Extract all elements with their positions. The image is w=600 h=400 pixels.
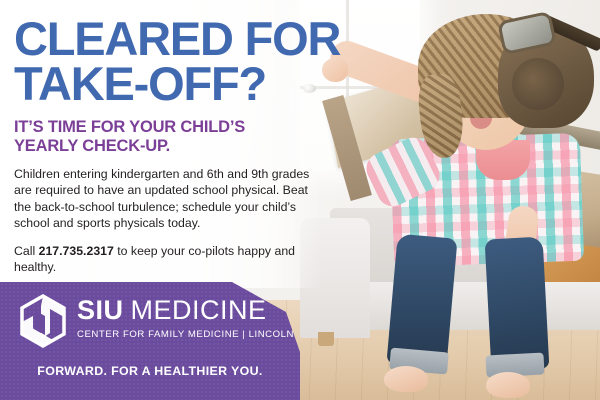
logo-medicine-text: MEDICINE	[131, 297, 267, 324]
call-prefix-text: Call	[14, 244, 39, 258]
brand-tagline: FORWARD. FOR A HEALTHIER YOU.	[0, 364, 300, 378]
child-jeans-right	[485, 237, 550, 372]
logo-wordmark: SIU MEDICINE	[77, 297, 294, 324]
child-foot-left	[384, 366, 428, 392]
couch-seat	[330, 282, 600, 330]
child-foot-right	[486, 372, 530, 398]
body-paragraph: Children entering kindergarten and 6th a…	[14, 166, 310, 231]
logo-text-lockup: SIU MEDICINE CENTER FOR FAMILY MEDICINE …	[77, 294, 294, 340]
page-title: CLEARED FOR TAKE-OFF?	[14, 16, 344, 106]
siu-medicine-logo[interactable]: SIU MEDICINE CENTER FOR FAMILY MEDICINE …	[18, 294, 294, 348]
phone-number[interactable]: 217.735.2317	[39, 244, 114, 258]
call-to-action-line: Call 217.735.2317 to keep your co-pilots…	[14, 243, 334, 275]
copy-block: CLEARED FOR TAKE-OFF? IT’S TIME FOR YOUR…	[14, 16, 344, 275]
subheadline: IT’S TIME FOR YOUR CHILD’S YEARLY CHECK-…	[14, 118, 344, 155]
couch-leg	[318, 332, 334, 346]
siu-hexagon-logo-mark	[18, 294, 68, 348]
advertisement-banner: CLEARED FOR TAKE-OFF? IT’S TIME FOR YOUR…	[0, 0, 600, 400]
logo-siu-text: SIU	[77, 297, 124, 324]
aviator-cap-ear-cup	[512, 58, 564, 110]
logo-subtitle: CENTER FOR FAMILY MEDICINE | LINCOLN	[77, 329, 294, 340]
